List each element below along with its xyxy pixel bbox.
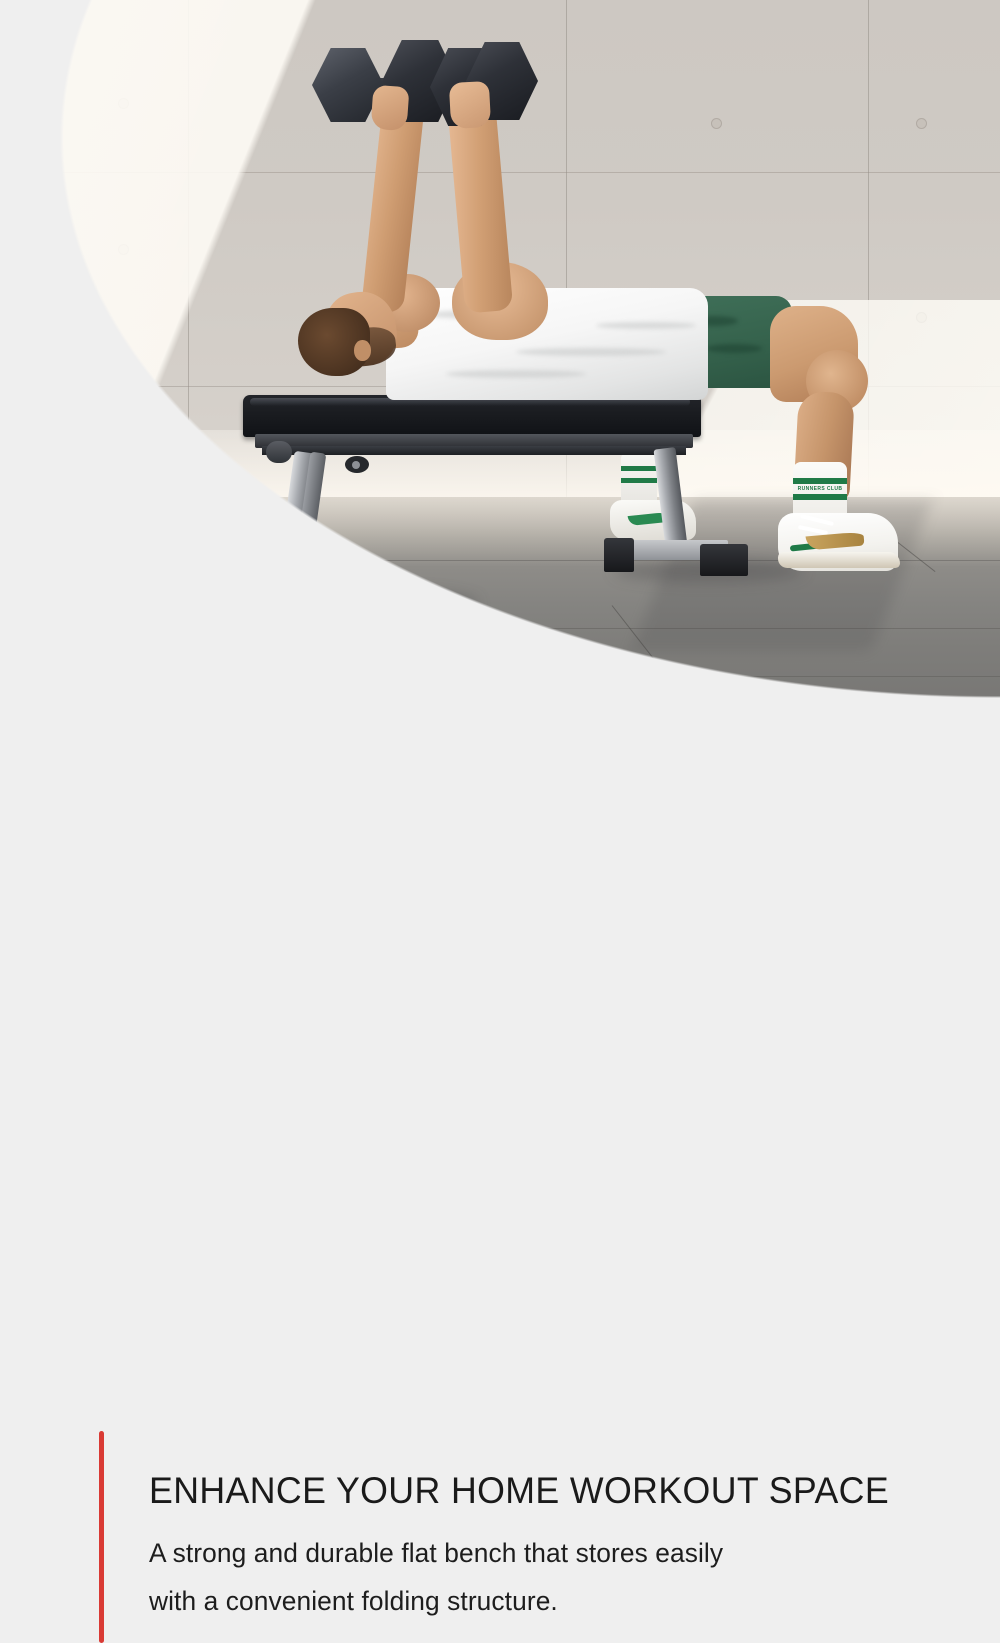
fabric-fold: [446, 370, 586, 378]
caption-block: ENHANCE YOUR HOME WORKOUT SPACE A strong…: [0, 700, 1000, 1000]
bench-foot-cap-rear-right: [700, 544, 748, 576]
subhead-line-1: A strong and durable flat bench that sto…: [149, 1540, 968, 1567]
fabric-fold: [596, 322, 696, 329]
head: [300, 292, 398, 376]
bench-leg-bolt: [300, 572, 309, 581]
hero-product-photo: RUNNERS CLUB: [0, 0, 1000, 698]
bench-frame-lower: [262, 446, 686, 455]
wall-tie-hole: [711, 118, 722, 129]
sock-stripe: [621, 478, 657, 483]
floor-tile-line: [0, 676, 1000, 677]
hand-near: [449, 81, 491, 129]
bench-leg-bolt: [280, 568, 289, 577]
fabric-fold: [706, 344, 762, 353]
subhead-line-2: with a convenient folding structure.: [149, 1588, 968, 1615]
wall-tie-hole: [118, 244, 129, 255]
sock-label: RUNNERS CLUB: [793, 486, 847, 492]
bench-pivot-bolt: [352, 461, 360, 469]
promo-banner: RUNNERS CLUB: [0, 0, 1000, 1000]
wall-tie-hole: [916, 118, 927, 129]
bench-foot-cap-rear-left: [604, 538, 634, 572]
sock-stripe: [793, 494, 847, 500]
wall-tie-hole: [118, 98, 129, 109]
sock-stripe: [621, 466, 657, 471]
bench-foot-cap-left: [212, 586, 248, 630]
sock-stripe: [793, 478, 847, 484]
bench-foot-cap-right: [298, 596, 360, 636]
headline: ENHANCE YOUR HOME WORKOUT SPACE: [149, 1472, 940, 1509]
hand-far: [371, 85, 410, 131]
red-accent-bar: [99, 1431, 104, 1643]
shoe-sole: [778, 552, 900, 568]
fabric-fold: [516, 348, 666, 356]
ear: [354, 340, 371, 361]
wall-tie-hole: [916, 312, 927, 323]
bench-adjust-knob: [266, 441, 292, 463]
